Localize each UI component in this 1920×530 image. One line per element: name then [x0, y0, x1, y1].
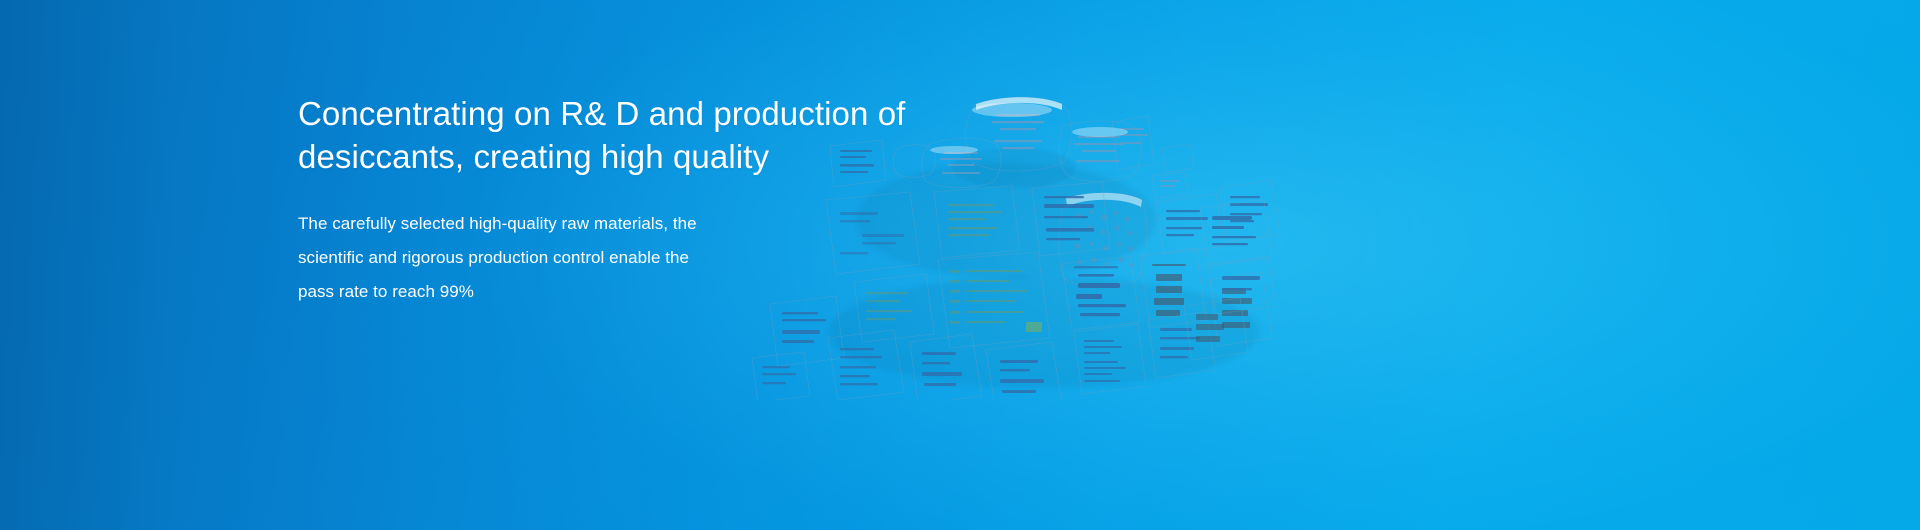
- packet-silica-right-upper: [1200, 200, 1272, 264]
- hero-text-block: Concentrating on R& D and production of …: [298, 92, 998, 309]
- packet-right-stack-b: [1220, 180, 1280, 242]
- hero-banner: Concentrating on R& D and production of …: [0, 0, 1920, 530]
- packet-far-left-thin: [752, 352, 810, 400]
- hero-description: The carefully selected high-quality raw …: [298, 207, 998, 309]
- packet-small-right-top: [1162, 144, 1194, 172]
- page-title: Concentrating on R& D and production of …: [298, 92, 998, 178]
- packet-small-right-top-2: [1152, 172, 1188, 198]
